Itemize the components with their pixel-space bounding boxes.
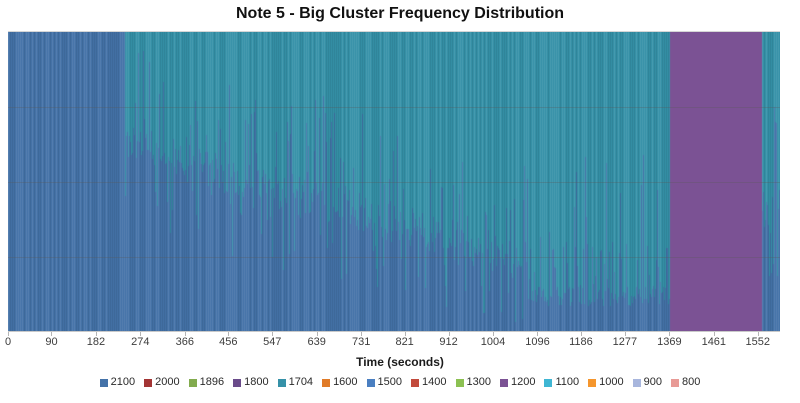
legend-swatch-icon — [671, 379, 679, 387]
stacked-area-plot — [8, 32, 780, 332]
x-tick-label: 547 — [263, 336, 281, 348]
legend-item-label: 900 — [644, 377, 662, 388]
legend-swatch-icon — [367, 379, 375, 387]
legend-swatch-icon — [456, 379, 464, 387]
legend-item-1600[interactable]: 1600 — [322, 377, 357, 388]
x-tick-label: 90 — [45, 336, 57, 348]
legend-swatch-icon — [100, 379, 108, 387]
legend-swatch-icon — [189, 379, 197, 387]
legend-swatch-icon — [544, 379, 552, 387]
legend-item-1100[interactable]: 1100 — [544, 377, 579, 388]
x-axis-tick-labels: 0901822743664565476397318219121004109611… — [0, 336, 800, 354]
legend-swatch-icon — [588, 379, 596, 387]
legend-item-label: 2100 — [111, 377, 135, 388]
legend-item-1704[interactable]: 1704 — [278, 377, 313, 388]
legend-item-label: 1300 — [467, 377, 491, 388]
legend-item-label: 1200 — [511, 377, 535, 388]
x-tick-label: 639 — [308, 336, 326, 348]
x-tick-label: 912 — [439, 336, 457, 348]
legend-item-label: 1600 — [333, 377, 357, 388]
x-tick-label: 0 — [5, 336, 11, 348]
legend-item-label: 1800 — [244, 377, 268, 388]
legend-item-2100[interactable]: 2100 — [100, 377, 135, 388]
legend-swatch-icon — [500, 379, 508, 387]
legend-item-1000[interactable]: 1000 — [588, 377, 623, 388]
legend-item-2000[interactable]: 2000 — [144, 377, 179, 388]
legend-swatch-icon — [411, 379, 419, 387]
chart-legend: 2100200018961800170416001500140013001200… — [0, 377, 800, 388]
x-axis-title: Time (seconds) — [0, 355, 800, 369]
x-tick-label: 1277 — [613, 336, 637, 348]
legend-item-1200[interactable]: 1200 — [500, 377, 535, 388]
legend-item-1400[interactable]: 1400 — [411, 377, 446, 388]
chart-title: Note 5 - Big Cluster Frequency Distribut… — [0, 5, 800, 23]
legend-swatch-icon — [233, 379, 241, 387]
legend-swatch-icon — [144, 379, 152, 387]
plot-area — [8, 31, 780, 332]
legend-swatch-icon — [322, 379, 330, 387]
x-tick-label: 182 — [87, 336, 105, 348]
legend-item-1300[interactable]: 1300 — [456, 377, 491, 388]
legend-item-1500[interactable]: 1500 — [367, 377, 402, 388]
legend-item-1896[interactable]: 1896 — [189, 377, 224, 388]
chart-container: Note 5 - Big Cluster Frequency Distribut… — [0, 0, 800, 403]
x-tick-label: 366 — [176, 336, 194, 348]
x-tick-label: 1186 — [569, 336, 593, 348]
x-tick-label: 456 — [219, 336, 237, 348]
legend-swatch-icon — [633, 379, 641, 387]
legend-item-label: 1400 — [422, 377, 446, 388]
legend-item-label: 1896 — [200, 377, 224, 388]
x-tick-label: 1096 — [525, 336, 549, 348]
x-tick-label: 1369 — [657, 336, 681, 348]
x-tick-label: 1461 — [702, 336, 726, 348]
legend-swatch-icon — [278, 379, 286, 387]
legend-item-label: 800 — [682, 377, 700, 388]
legend-item-800[interactable]: 800 — [671, 377, 700, 388]
legend-item-label: 1500 — [378, 377, 402, 388]
x-tick-label: 1552 — [746, 336, 770, 348]
x-tick-label: 821 — [395, 336, 413, 348]
x-tick-label: 731 — [352, 336, 370, 348]
legend-item-label: 1100 — [555, 377, 579, 388]
legend-item-label: 1704 — [289, 377, 313, 388]
x-tick-label: 1004 — [481, 336, 505, 348]
legend-item-900[interactable]: 900 — [633, 377, 662, 388]
x-tick-label: 274 — [131, 336, 149, 348]
legend-item-label: 2000 — [155, 377, 179, 388]
legend-item-label: 1000 — [599, 377, 623, 388]
legend-item-1800[interactable]: 1800 — [233, 377, 268, 388]
